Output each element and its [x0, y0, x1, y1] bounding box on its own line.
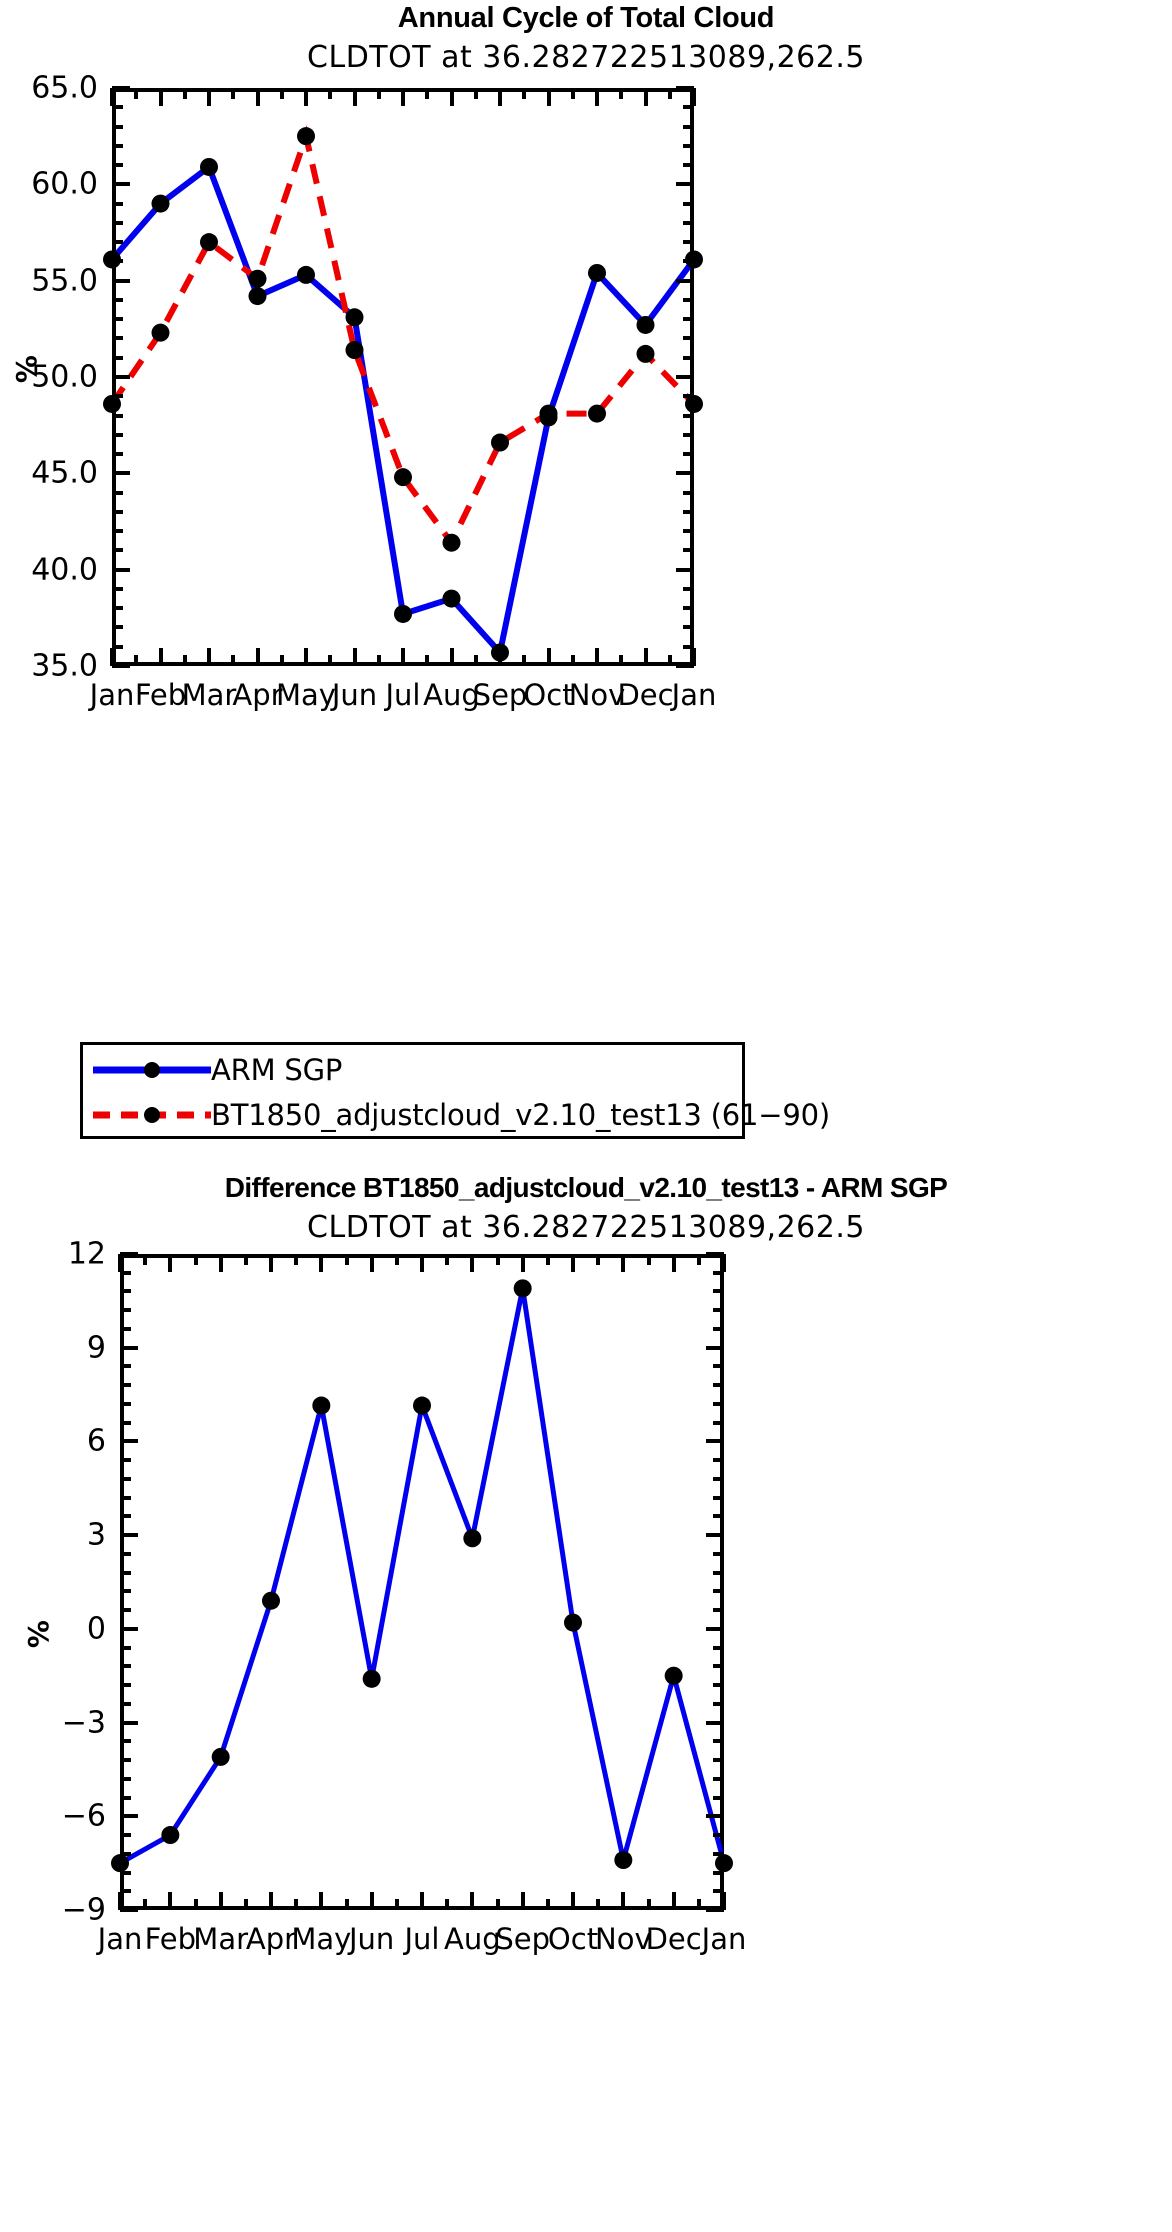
- x-tick-major: [110, 88, 114, 106]
- y-tick-minor: [713, 1383, 724, 1387]
- y-tick-minor: [713, 1496, 724, 1500]
- series-line-0: [120, 1288, 724, 1863]
- y-tick-minor: [120, 1477, 131, 1481]
- x-tick-minor: [596, 1899, 600, 1910]
- y-tick-major: [706, 1533, 724, 1537]
- y-tick-minor: [120, 1383, 131, 1387]
- data-point: [665, 1667, 683, 1685]
- y-tick-major: [676, 471, 694, 475]
- y-tick-minor: [112, 317, 123, 321]
- y-tick-minor: [713, 1796, 724, 1800]
- y-tick-minor: [112, 510, 123, 514]
- x-tick-label: Jan: [702, 1922, 747, 1956]
- y-tick-minor: [112, 221, 123, 225]
- y-tick-minor: [112, 529, 123, 533]
- data-point: [200, 233, 218, 251]
- y-tick-major: [120, 1252, 138, 1256]
- x-tick-label: Aug: [444, 1922, 501, 1956]
- x-tick-minor: [345, 1899, 349, 1910]
- x-tick-major: [207, 648, 211, 666]
- y-tick-minor: [112, 336, 123, 340]
- x-tick-major: [401, 648, 405, 666]
- data-point: [363, 1670, 381, 1688]
- y-tick-minor: [683, 414, 694, 418]
- y-tick-minor: [120, 1308, 131, 1312]
- y-tick-minor: [713, 1777, 724, 1781]
- y-tick-major: [676, 375, 694, 379]
- x-tick-minor: [328, 88, 332, 99]
- y-tick-major: [120, 1533, 138, 1537]
- y-tick-minor: [683, 336, 694, 340]
- y-tick-major: [120, 1721, 138, 1725]
- y-tick-minor: [713, 1402, 724, 1406]
- x-tick-major: [722, 1254, 726, 1272]
- y-tick-major: [120, 1346, 138, 1350]
- y-tick-minor: [120, 1758, 131, 1762]
- x-tick-major: [470, 1892, 474, 1910]
- x-tick-minor: [183, 655, 187, 666]
- data-point: [540, 405, 558, 423]
- x-tick-major: [269, 1254, 273, 1272]
- x-tick-major: [370, 1254, 374, 1272]
- data-point: [111, 1854, 129, 1872]
- x-tick-major: [353, 88, 357, 106]
- y-tick-major: [112, 182, 130, 186]
- y-tick-minor: [713, 1702, 724, 1706]
- x-tick-minor: [546, 1899, 550, 1910]
- x-tick-minor: [194, 1899, 198, 1910]
- y-tick-minor: [112, 414, 123, 418]
- x-tick-minor: [445, 1899, 449, 1910]
- x-tick-minor: [143, 1899, 147, 1910]
- x-tick-major: [219, 1892, 223, 1910]
- y-tick-minor: [713, 1852, 724, 1856]
- data-point: [161, 1826, 179, 1844]
- y-tick-minor: [120, 1402, 131, 1406]
- x-tick-minor: [697, 1899, 701, 1910]
- y-tick-major: [112, 279, 130, 283]
- x-tick-major: [219, 1254, 223, 1272]
- page-title-bottom: Difference BT1850_adjustcloud_v2.10_test…: [0, 1172, 1172, 1204]
- y-tick-minor: [713, 1758, 724, 1762]
- data-point: [413, 1397, 431, 1415]
- x-tick-major: [547, 648, 551, 666]
- x-tick-minor: [244, 1899, 248, 1910]
- y-tick-label: 6: [87, 1424, 106, 1459]
- y-tick-major: [120, 1439, 138, 1443]
- subtitle-bottom: CLDTOT at 36.282722513089,262.5: [0, 1210, 1172, 1245]
- x-tick-major: [644, 88, 648, 106]
- x-tick-label: Mar: [182, 678, 237, 712]
- data-point: [637, 316, 655, 334]
- data-point: [346, 308, 364, 326]
- legend-label-0: ARM SGP: [211, 1053, 342, 1087]
- x-tick-minor: [668, 655, 672, 666]
- y-tick-major: [112, 471, 130, 475]
- data-point: [200, 158, 218, 176]
- y-tick-major: [676, 568, 694, 572]
- y-tick-label: 0: [87, 1611, 106, 1646]
- y-tick-minor: [683, 317, 694, 321]
- y-tick-minor: [713, 1308, 724, 1312]
- y-tick-minor: [120, 1664, 131, 1668]
- y-tick-minor: [112, 587, 123, 591]
- y-tick-major: [120, 1908, 138, 1912]
- y-tick-major: [706, 1814, 724, 1818]
- data-point: [443, 534, 461, 552]
- x-tick-label: Sep: [495, 1922, 550, 1956]
- y-tick-minor: [683, 606, 694, 610]
- x-tick-minor: [280, 88, 284, 99]
- x-tick-major: [644, 648, 648, 666]
- data-point: [463, 1529, 481, 1547]
- y-tick-minor: [112, 491, 123, 495]
- x-tick-major: [319, 1254, 323, 1272]
- y-tick-minor: [683, 433, 694, 437]
- x-tick-major: [256, 88, 260, 106]
- y-tick-minor: [120, 1364, 131, 1368]
- y-tick-minor: [120, 1646, 131, 1650]
- y-tick-minor: [683, 529, 694, 533]
- x-tick-minor: [425, 655, 429, 666]
- x-tick-major: [521, 1892, 525, 1910]
- x-tick-major: [304, 648, 308, 666]
- y-tick-major: [706, 1346, 724, 1350]
- y-tick-minor: [112, 606, 123, 610]
- y-tick-minor: [120, 1421, 131, 1425]
- legend-swatch-dashed: [93, 1104, 211, 1126]
- x-tick-minor: [377, 655, 381, 666]
- x-tick-minor: [134, 88, 138, 99]
- x-tick-major: [420, 1254, 424, 1272]
- x-tick-major: [370, 1892, 374, 1910]
- y-tick-minor: [120, 1514, 131, 1518]
- y-tick-major: [112, 375, 130, 379]
- x-tick-major: [207, 88, 211, 106]
- x-tick-minor: [280, 655, 284, 666]
- y-tick-major: [120, 1627, 138, 1631]
- x-tick-major: [692, 648, 696, 666]
- y-tick-minor: [713, 1364, 724, 1368]
- y-tick-minor: [713, 1552, 724, 1556]
- x-tick-major: [401, 88, 405, 106]
- x-tick-label: Mar: [193, 1922, 248, 1956]
- y-tick-minor: [120, 1702, 131, 1706]
- x-tick-minor: [134, 655, 138, 666]
- x-tick-major: [672, 1254, 676, 1272]
- y-tick-minor: [683, 125, 694, 129]
- y-tick-label: 12: [68, 1237, 106, 1272]
- legend-item-arm-sgp: ARM SGP: [93, 1046, 342, 1094]
- data-point: [588, 405, 606, 423]
- annual-cycle-panel: Annual Cycle of Total Cloud CLDTOT at 36…: [0, 0, 1172, 1150]
- x-tick-minor: [345, 1254, 349, 1265]
- y-tick-major: [676, 279, 694, 283]
- x-tick-major: [110, 648, 114, 666]
- x-tick-minor: [647, 1899, 651, 1910]
- y-tick-major: [112, 664, 130, 668]
- y-tick-minor: [713, 1608, 724, 1612]
- legend: ARM SGP BT1850_adjustcloud_v2.10_test13 …: [80, 1042, 745, 1139]
- x-tick-minor: [395, 1899, 399, 1910]
- x-tick-label: Feb: [135, 678, 186, 712]
- y-tick-minor: [112, 240, 123, 244]
- y-tick-minor: [112, 125, 123, 129]
- x-tick-label: Feb: [145, 1922, 196, 1956]
- x-tick-major: [595, 88, 599, 106]
- y-tick-label: 65.0: [31, 71, 98, 106]
- x-tick-minor: [571, 655, 575, 666]
- x-tick-major: [470, 1254, 474, 1272]
- y-tick-minor: [683, 221, 694, 225]
- x-tick-major: [159, 648, 163, 666]
- y-tick-minor: [112, 298, 123, 302]
- y-tick-minor: [120, 1289, 131, 1293]
- x-tick-major: [547, 88, 551, 106]
- y-tick-minor: [112, 625, 123, 629]
- y-tick-minor: [713, 1458, 724, 1462]
- y-axis-label-bottom: %: [22, 1620, 55, 1648]
- y-tick-minor: [713, 1683, 724, 1687]
- subtitle-top: CLDTOT at 36.282722513089,262.5: [0, 40, 1172, 75]
- x-tick-major: [168, 1892, 172, 1910]
- x-tick-major: [159, 88, 163, 106]
- x-tick-label: Jan: [672, 678, 717, 712]
- y-tick-minor: [683, 548, 694, 552]
- data-point: [312, 1397, 330, 1415]
- x-tick-minor: [231, 655, 235, 666]
- data-point: [249, 287, 267, 305]
- y-tick-minor: [713, 1514, 724, 1518]
- y-tick-label: −6: [62, 1799, 106, 1834]
- x-tick-label: Apr: [246, 1922, 296, 1956]
- y-tick-label: −3: [62, 1705, 106, 1740]
- y-tick-label: 3: [87, 1518, 106, 1553]
- y-tick-minor: [683, 298, 694, 302]
- y-tick-minor: [112, 163, 123, 167]
- y-tick-minor: [120, 1327, 131, 1331]
- x-tick-minor: [231, 88, 235, 99]
- y-tick-minor: [683, 491, 694, 495]
- x-tick-major: [450, 88, 454, 106]
- data-point: [346, 341, 364, 359]
- x-tick-major: [498, 88, 502, 106]
- y-tick-minor: [120, 1458, 131, 1462]
- x-tick-minor: [183, 88, 187, 99]
- x-tick-minor: [571, 88, 575, 99]
- x-tick-minor: [294, 1899, 298, 1910]
- x-tick-major: [118, 1254, 122, 1272]
- y-tick-major: [112, 86, 130, 90]
- data-point: [152, 324, 170, 342]
- y-tick-major: [706, 1627, 724, 1631]
- x-tick-minor: [474, 655, 478, 666]
- x-tick-major: [595, 648, 599, 666]
- y-tick-label: 9: [87, 1330, 106, 1365]
- x-tick-major: [621, 1892, 625, 1910]
- y-tick-minor: [713, 1664, 724, 1668]
- data-point: [514, 1279, 532, 1297]
- y-tick-minor: [120, 1852, 131, 1856]
- x-tick-major: [571, 1254, 575, 1272]
- y-tick-minor: [120, 1496, 131, 1500]
- x-tick-label: May: [276, 678, 336, 712]
- y-tick-label: 45.0: [31, 456, 98, 491]
- plot-area-top: 65.060.055.050.045.040.035.0JanFebMarApr…: [112, 88, 694, 666]
- x-tick-label: Dec: [646, 1922, 702, 1956]
- series-line-0: [112, 167, 694, 653]
- y-tick-minor: [683, 259, 694, 263]
- data-point: [297, 266, 315, 284]
- x-tick-label: Jul: [386, 678, 421, 712]
- x-tick-label: Jul: [405, 1922, 440, 1956]
- y-tick-label: 60.0: [31, 167, 98, 202]
- data-point: [715, 1854, 733, 1872]
- x-tick-major: [269, 1892, 273, 1910]
- x-tick-minor: [328, 655, 332, 666]
- y-tick-major: [676, 182, 694, 186]
- x-tick-minor: [395, 1254, 399, 1265]
- y-tick-minor: [120, 1571, 131, 1575]
- x-tick-minor: [697, 1254, 701, 1265]
- data-point: [152, 195, 170, 213]
- y-tick-minor: [112, 433, 123, 437]
- y-tick-minor: [683, 163, 694, 167]
- y-tick-minor: [713, 1421, 724, 1425]
- x-tick-major: [118, 1892, 122, 1910]
- x-tick-major: [722, 1892, 726, 1910]
- y-tick-label: 55.0: [31, 263, 98, 298]
- y-tick-minor: [683, 625, 694, 629]
- y-tick-minor: [713, 1289, 724, 1293]
- x-tick-minor: [194, 1254, 198, 1265]
- x-tick-major: [498, 648, 502, 666]
- y-tick-minor: [713, 1327, 724, 1331]
- y-tick-minor: [683, 240, 694, 244]
- y-tick-minor: [713, 1871, 724, 1875]
- x-tick-label: Oct: [523, 678, 573, 712]
- y-tick-minor: [120, 1683, 131, 1687]
- data-point: [249, 270, 267, 288]
- x-tick-major: [304, 88, 308, 106]
- x-tick-label: Aug: [423, 678, 480, 712]
- x-tick-minor: [668, 88, 672, 99]
- x-tick-minor: [619, 655, 623, 666]
- y-tick-major: [120, 1814, 138, 1818]
- y-tick-label: 35.0: [31, 649, 98, 684]
- x-tick-major: [256, 648, 260, 666]
- series-canvas-top: [112, 88, 694, 666]
- y-tick-minor: [120, 1739, 131, 1743]
- x-tick-minor: [377, 88, 381, 99]
- y-tick-minor: [683, 452, 694, 456]
- data-point: [491, 434, 509, 452]
- x-tick-minor: [294, 1254, 298, 1265]
- x-tick-major: [672, 1892, 676, 1910]
- data-point: [394, 605, 412, 623]
- x-tick-minor: [647, 1254, 651, 1265]
- y-tick-minor: [120, 1833, 131, 1837]
- data-point: [637, 345, 655, 363]
- x-tick-label: Jun: [349, 1922, 394, 1956]
- data-point: [564, 1614, 582, 1632]
- y-tick-minor: [112, 394, 123, 398]
- x-tick-minor: [445, 1254, 449, 1265]
- data-point: [297, 127, 315, 145]
- y-tick-minor: [120, 1552, 131, 1556]
- x-tick-minor: [244, 1254, 248, 1265]
- x-tick-minor: [522, 88, 526, 99]
- y-tick-minor: [683, 144, 694, 148]
- x-tick-label: Dec: [617, 678, 673, 712]
- y-tick-major: [706, 1439, 724, 1443]
- y-tick-minor: [112, 259, 123, 263]
- y-tick-minor: [713, 1833, 724, 1837]
- plot-area-bottom: 129630−3−6−9JanFebMarAprMayJunJulAugSepO…: [120, 1254, 724, 1910]
- x-tick-major: [168, 1254, 172, 1272]
- data-point: [614, 1851, 632, 1869]
- x-tick-label: Sep: [473, 678, 528, 712]
- y-tick-minor: [713, 1589, 724, 1593]
- legend-label-1: BT1850_adjustcloud_v2.10_test13 (61−90): [211, 1098, 830, 1132]
- y-tick-minor: [112, 356, 123, 360]
- x-tick-minor: [619, 88, 623, 99]
- x-tick-label: Jun: [332, 678, 377, 712]
- page-title: Annual Cycle of Total Cloud: [0, 2, 1172, 35]
- y-tick-minor: [112, 452, 123, 456]
- y-tick-minor: [713, 1739, 724, 1743]
- y-tick-minor: [112, 548, 123, 552]
- legend-item-bt1850: BT1850_adjustcloud_v2.10_test13 (61−90): [93, 1091, 830, 1139]
- y-tick-minor: [120, 1608, 131, 1612]
- y-tick-minor: [683, 510, 694, 514]
- x-tick-label: May: [291, 1922, 351, 1956]
- data-point: [394, 468, 412, 486]
- x-tick-major: [353, 648, 357, 666]
- x-tick-major: [521, 1254, 525, 1272]
- y-tick-minor: [120, 1871, 131, 1875]
- y-tick-minor: [120, 1589, 131, 1593]
- data-point: [212, 1748, 230, 1766]
- y-tick-minor: [683, 356, 694, 360]
- y-tick-minor: [713, 1646, 724, 1650]
- x-tick-label: Oct: [548, 1922, 598, 1956]
- series-canvas-bottom: [120, 1254, 724, 1910]
- legend-swatch-solid: [93, 1059, 211, 1081]
- y-tick-minor: [112, 202, 123, 206]
- x-tick-minor: [546, 1254, 550, 1265]
- x-tick-minor: [143, 1254, 147, 1265]
- y-tick-label: 50.0: [31, 360, 98, 395]
- x-tick-minor: [425, 88, 429, 99]
- y-tick-minor: [713, 1477, 724, 1481]
- x-tick-minor: [496, 1254, 500, 1265]
- x-tick-label: Jan: [90, 678, 135, 712]
- x-tick-label: Jan: [98, 1922, 143, 1956]
- y-tick-label: 40.0: [31, 552, 98, 587]
- x-tick-minor: [474, 88, 478, 99]
- x-tick-major: [450, 648, 454, 666]
- data-point: [262, 1592, 280, 1610]
- data-point: [443, 590, 461, 608]
- x-tick-minor: [522, 655, 526, 666]
- x-tick-major: [571, 1892, 575, 1910]
- y-tick-minor: [683, 202, 694, 206]
- y-tick-minor: [683, 587, 694, 591]
- y-tick-minor: [713, 1571, 724, 1575]
- data-point: [588, 264, 606, 282]
- x-tick-major: [692, 88, 696, 106]
